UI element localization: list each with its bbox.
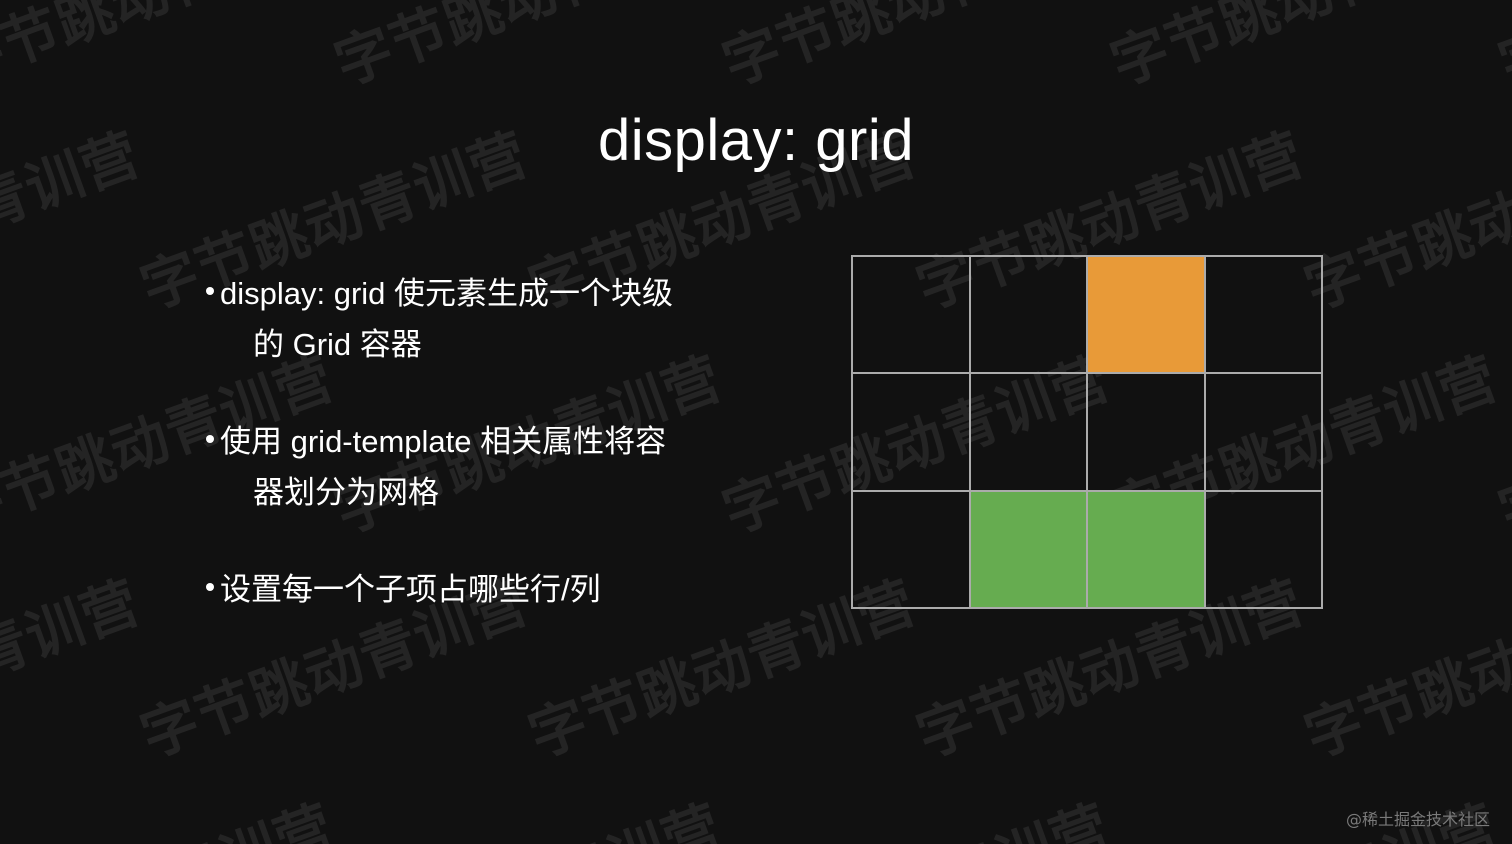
page-title: display: grid — [0, 107, 1512, 174]
list-item: 使用 grid-template 相关属性将容器划分为网格 — [206, 416, 776, 518]
grid-cell-filled-r1-c3 — [1088, 257, 1206, 374]
list-item: display: grid 使元素生成一个块级的 Grid 容器 — [206, 268, 776, 370]
bullet-dot-icon — [206, 287, 214, 295]
grid-cell-empty-r1-c4 — [1206, 257, 1324, 374]
list-item: 设置每一个子项占哪些行/列 — [206, 564, 776, 615]
watermark-tile: 字节跳动青训营 — [0, 0, 344, 101]
watermark-tile: 字节跳动青训营 — [710, 0, 1120, 101]
grid-cell-empty-r2-c1 — [853, 374, 971, 491]
list-item-line-1: 设置每一个子项占哪些行/列 — [206, 564, 776, 615]
watermark-tile: 字节跳动青训营 — [1292, 557, 1512, 773]
watermark-tile: 字节跳动青训营 — [322, 781, 732, 844]
watermark-tile: 字节跳动青训营 — [0, 781, 344, 844]
grid-cell-empty-r3-c1 — [853, 492, 971, 609]
list-item-line-2: 的 Grid 容器 — [206, 319, 776, 370]
presentation-slide: 字节跳动青训营字节跳动青训营字节跳动青训营字节跳动青训营字节跳动青训营字节跳动青… — [0, 0, 1512, 844]
grid-cell-empty-r2-c2 — [971, 374, 1089, 491]
grid-cell-empty-r2-c4 — [1206, 374, 1324, 491]
watermark-tile: 字节跳动青训营 — [1486, 333, 1512, 549]
list-item-line-2: 器划分为网格 — [206, 467, 776, 518]
grid-diagram — [851, 255, 1323, 609]
list-item-line-1: 使用 grid-template 相关属性将容 — [206, 416, 776, 467]
watermark-tile: 字节跳动青训营 — [1098, 0, 1508, 101]
grid-cell-empty-r1-c2 — [971, 257, 1089, 374]
corner-credit-watermark: @稀土掘金技术社区 — [1346, 806, 1490, 830]
bullet-list: display: grid 使元素生成一个块级的 Grid 容器使用 grid-… — [206, 268, 776, 615]
watermark-tile: 字节跳动青训营 — [710, 781, 1120, 844]
watermark-tile: 字节跳动青训营 — [322, 0, 732, 101]
grid-cell-filled-r3-c2 — [971, 492, 1089, 609]
bullet-dot-icon — [206, 435, 214, 443]
grid-cell-empty-r3-c4 — [1206, 492, 1324, 609]
watermark-tile: 字节跳动青训营 — [0, 557, 150, 773]
grid-cell-empty-r2-c3 — [1088, 374, 1206, 491]
bullet-dot-icon — [206, 583, 214, 591]
grid-cell-filled-r3-c3 — [1088, 492, 1206, 609]
watermark-tile: 字节跳动青训营 — [1486, 0, 1512, 101]
grid-cell-empty-r1-c1 — [853, 257, 971, 374]
list-item-line-1: display: grid 使元素生成一个块级 — [206, 268, 776, 319]
